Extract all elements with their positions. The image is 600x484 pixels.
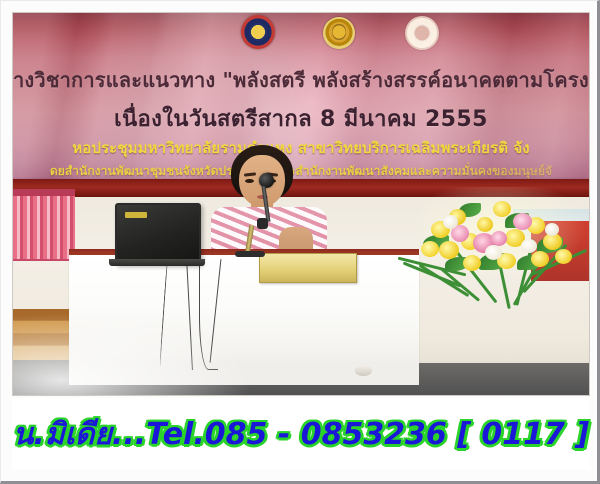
flower-arrangement (405, 179, 590, 307)
microphone-joint (257, 218, 268, 229)
royal-emblem-blue-icon (241, 15, 275, 49)
pink-curtain (13, 189, 75, 261)
eye-left (245, 179, 254, 183)
royal-emblem-gold-icon (323, 17, 355, 49)
watermark-band: น.มิเดีย...Tel.085 - 0853236 [ 0117 ] (12, 398, 590, 470)
laptop-base (109, 259, 205, 266)
royal-emblem-white-icon (405, 16, 439, 50)
seminar-photograph: างวิชาการและแนวทาง "พลังสตรี พลังสร้างสร… (12, 12, 590, 396)
name-plate (259, 253, 357, 283)
curtain-rail (13, 189, 75, 196)
banner-headline-line2: เนื่องในวันสตรีสากล 8 มีนาคม 2555 (13, 101, 589, 136)
watermark-text: น.มิเดีย...Tel.085 - 0853236 [ 0117 ] (13, 411, 589, 458)
photo-glare (13, 313, 253, 396)
computer-mouse (355, 365, 372, 376)
microphone-base (235, 251, 265, 257)
banner-headline-line1: างวิชาการและแนวทาง "พลังสตรี พลังสร้างสร… (13, 64, 589, 96)
laptop-brand-logo (125, 212, 147, 218)
photo-frame: างวิชาการและแนวทาง "พลังสตรี พลังสร้างสร… (0, 0, 600, 484)
